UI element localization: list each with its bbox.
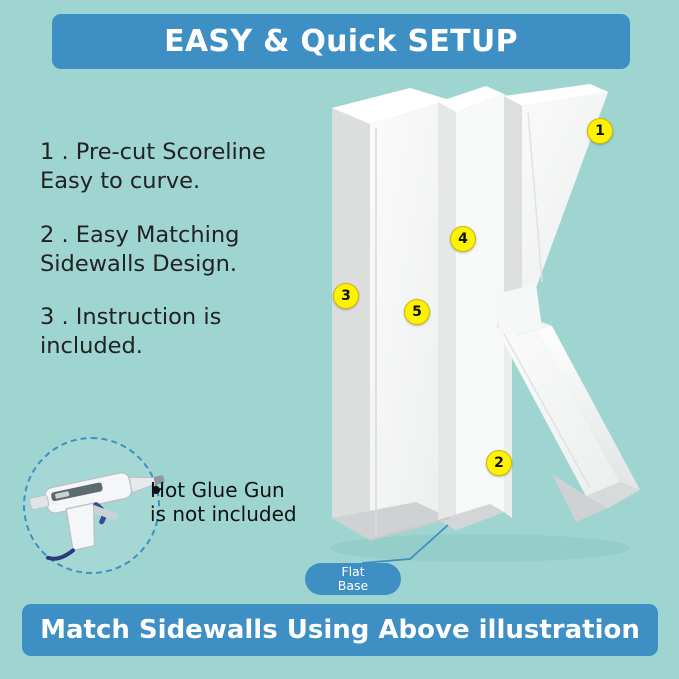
callout-1: 1 [587, 118, 613, 144]
flat-base-pointer [352, 523, 452, 567]
callout-label: 5 [412, 304, 422, 320]
footer-banner: Match Sidewalls Using Above illustration [22, 604, 658, 656]
callout-label: 3 [341, 288, 351, 304]
page-root: EASY & Quick SETUP [0, 0, 679, 679]
header-banner: EASY & Quick SETUP [52, 14, 630, 69]
page-title: EASY & Quick SETUP [164, 24, 518, 59]
feature-item-3: 3 . Instruction is included. [40, 303, 330, 362]
letter-k-3d-illustration [290, 78, 670, 578]
footer-title: Match Sidewalls Using Above illustration [40, 615, 640, 645]
feature-list: 1 . Pre-cut Scoreline Easy to curve. 2 .… [40, 138, 330, 386]
callout-2: 2 [486, 450, 512, 476]
callout-4: 4 [450, 226, 476, 252]
flat-base-label: Flat Base [338, 565, 368, 593]
feature-item-2: 2 . Easy Matching Sidewalls Design. [40, 221, 330, 280]
flat-base-tag: Flat Base [305, 563, 401, 595]
callout-5: 5 [404, 299, 430, 325]
callout-label: 2 [494, 455, 504, 471]
feature-item-1: 1 . Pre-cut Scoreline Easy to curve. [40, 138, 330, 197]
callout-label: 1 [595, 123, 605, 139]
callout-label: 4 [458, 231, 468, 247]
callout-3: 3 [333, 283, 359, 309]
glue-gun-note: Hot Glue Gun is not included [150, 478, 340, 527]
